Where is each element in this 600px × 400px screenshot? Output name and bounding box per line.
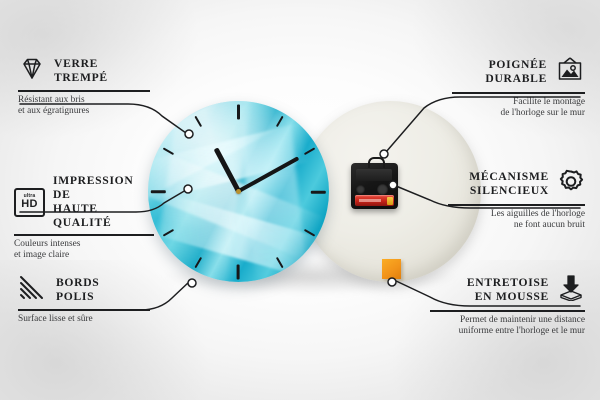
hanger-loop-icon [368,157,385,168]
gear-icon [557,168,585,200]
movement-knob-left [356,185,365,194]
callout-title: POIGNÉE DURABLE [485,58,547,86]
battery-positive-tip [387,197,393,205]
callout-header: POIGNÉE DURABLE [452,56,585,88]
ultra-hd-bottom-label: HD [21,199,38,210]
polished-edge-lines-icon [18,274,48,305]
callout-subtext: Surface lisse et sûre [18,314,150,325]
callout-bords-polis: BORDS POLIS Surface lisse et sûre [18,274,150,325]
clock-tick-0 [237,104,240,119]
callout-rule [18,90,150,92]
callout-impression-haute-qualite: ultra HD IMPRESSION DE HAUTE QUALITÉ Cou… [14,174,154,261]
callout-verre-trempe: VERRE TREMPÉ Résistant aux bris et aux é… [18,56,150,117]
foam-spacer-arrow-icon [557,274,585,306]
callout-entretoise-en-mousse: ENTRETOISE EN MOUSSE Permet de maintenir… [430,274,585,337]
clock-tick-6 [237,264,240,279]
callout-rule [18,309,150,311]
callout-subtext: Permet de maintenir une distance uniform… [430,315,585,338]
clock-movement-mechanism [351,163,398,209]
callout-header: BORDS POLIS [18,274,150,305]
callout-rule [14,234,154,236]
diamond-icon [18,56,46,86]
aa-battery [355,195,394,206]
callout-title: ENTRETOISE EN MOUSSE [467,276,549,304]
callout-rule [430,310,585,312]
callout-subtext: Résistant aux bris et aux égratignures [18,95,150,118]
battery-stripe [359,199,381,202]
clock-center-cap [236,189,241,194]
callout-title: VERRE TREMPÉ [54,57,108,85]
callout-rule [448,204,585,206]
clock-tick-3 [311,190,326,193]
callout-title: IMPRESSION DE HAUTE QUALITÉ [53,174,154,230]
callout-title: BORDS POLIS [56,276,99,304]
ultra-hd-icon: ultra HD [14,188,45,217]
callout-header: MÉCANISME SILENCIEUX [448,168,585,200]
callout-header: VERRE TREMPÉ [18,56,150,86]
picture-hanger-icon [555,56,585,88]
callout-title: MÉCANISME SILENCIEUX [469,170,549,198]
callout-subtext: Les aiguilles de l'horloge ne font aucun… [448,209,585,232]
clock-front-face [148,101,329,282]
callout-subtext: Facilite le montage de l'horloge sur le … [452,97,585,120]
movement-plate [356,169,392,181]
callout-header: ENTRETOISE EN MOUSSE [430,274,585,306]
foam-spacer-pad [382,259,401,279]
callout-mecanisme-silencieux: MÉCANISME SILENCIEUX Les aiguilles de l'… [448,168,585,231]
infographic-canvas: VERRE TREMPÉ Résistant aux bris et aux é… [0,0,600,400]
callout-poignee-durable: POIGNÉE DURABLE Facilite le montage de l… [452,56,585,119]
movement-knob-right [377,184,388,195]
callout-subtext: Couleurs intenses et image claire [14,239,154,262]
callout-rule [452,92,585,94]
callout-header: ultra HD IMPRESSION DE HAUTE QUALITÉ [14,174,154,230]
